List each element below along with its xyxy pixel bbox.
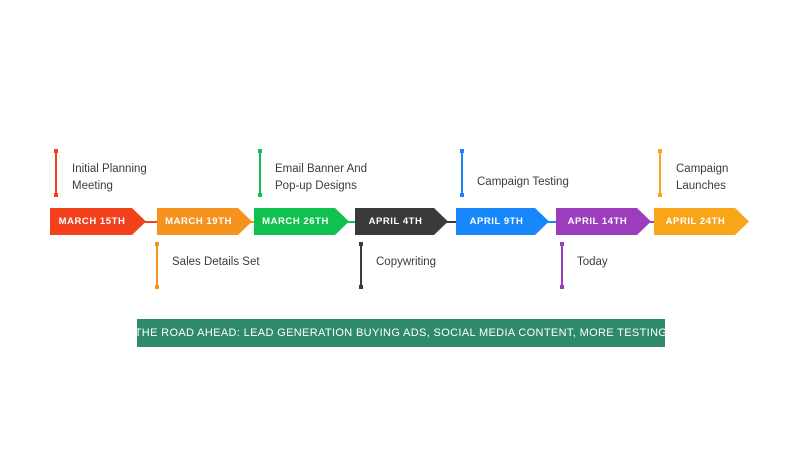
milestone-label-march-19: MARCH 19TH bbox=[165, 217, 244, 227]
stem-march-19 bbox=[156, 243, 158, 288]
note-april-4: Copywriting bbox=[376, 254, 436, 271]
milestone-label-april-4: APRIL 4TH bbox=[369, 217, 435, 227]
milestone-april-24[interactable]: APRIL 24TH bbox=[654, 208, 749, 235]
note-march-26: Email Banner And Pop-up Designs bbox=[275, 161, 367, 194]
note-april-14: Today bbox=[577, 254, 608, 271]
milestone-label-april-24: APRIL 24TH bbox=[666, 217, 738, 227]
milestone-april-9[interactable]: APRIL 9TH bbox=[456, 208, 549, 235]
note-march-15: Initial Planning Meeting bbox=[72, 161, 147, 194]
stem-march-15 bbox=[55, 150, 57, 196]
stem-april-24 bbox=[659, 150, 661, 196]
note-april-24: Campaign Launches bbox=[676, 161, 728, 194]
timeline-diagram: Initial Planning Meeting MARCH 15TH MARC… bbox=[0, 0, 800, 450]
milestone-april-4[interactable]: APRIL 4TH bbox=[355, 208, 448, 235]
stem-april-9 bbox=[461, 150, 463, 196]
stem-march-26 bbox=[259, 150, 261, 196]
note-march-19: Sales Details Set bbox=[172, 254, 260, 271]
milestone-label-march-26: MARCH 26TH bbox=[262, 217, 341, 227]
road-ahead-banner: THE ROAD AHEAD: LEAD GENERATION BUYING A… bbox=[137, 319, 665, 347]
milestone-label-april-9: APRIL 9TH bbox=[470, 217, 536, 227]
milestone-march-15[interactable]: MARCH 15TH bbox=[50, 208, 146, 235]
milestone-april-14[interactable]: APRIL 14TH bbox=[556, 208, 651, 235]
stem-april-4 bbox=[360, 243, 362, 288]
milestone-label-march-15: MARCH 15TH bbox=[59, 217, 138, 227]
note-april-9: Campaign Testing bbox=[477, 174, 569, 191]
milestone-label-april-14: APRIL 14TH bbox=[568, 217, 640, 227]
milestone-march-26[interactable]: MARCH 26TH bbox=[254, 208, 349, 235]
stem-april-14 bbox=[561, 243, 563, 288]
milestone-march-19[interactable]: MARCH 19TH bbox=[157, 208, 252, 235]
road-ahead-banner-text: THE ROAD AHEAD: LEAD GENERATION BUYING A… bbox=[135, 328, 668, 339]
